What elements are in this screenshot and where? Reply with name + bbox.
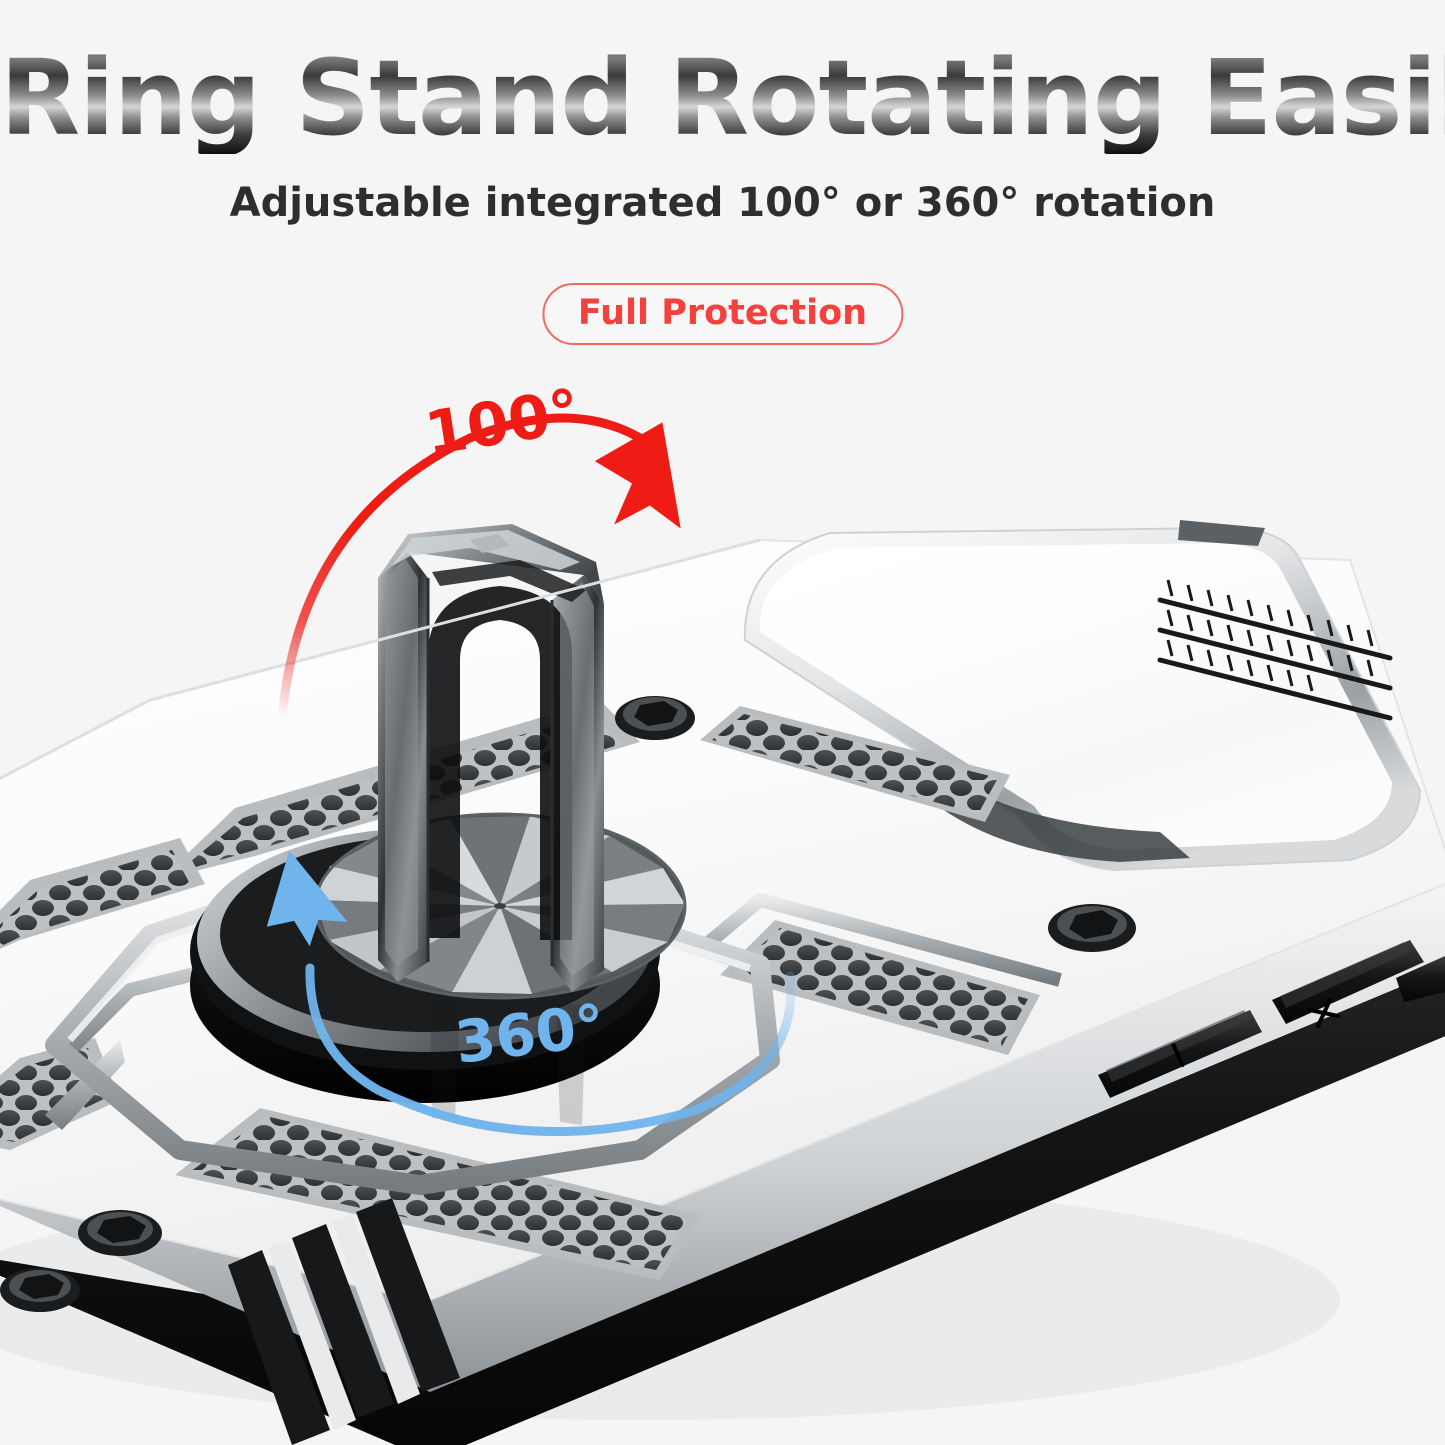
product-feature-image: Ring Stand Rotating Easily Adjustable in… <box>0 0 1445 1445</box>
hex-screw <box>1048 904 1136 952</box>
hex-screw <box>0 1268 80 1312</box>
hex-screw <box>615 696 695 740</box>
brushed-metal-disc <box>315 814 685 998</box>
hex-screw <box>78 1210 162 1256</box>
phone-case-illustration <box>0 0 1445 1445</box>
